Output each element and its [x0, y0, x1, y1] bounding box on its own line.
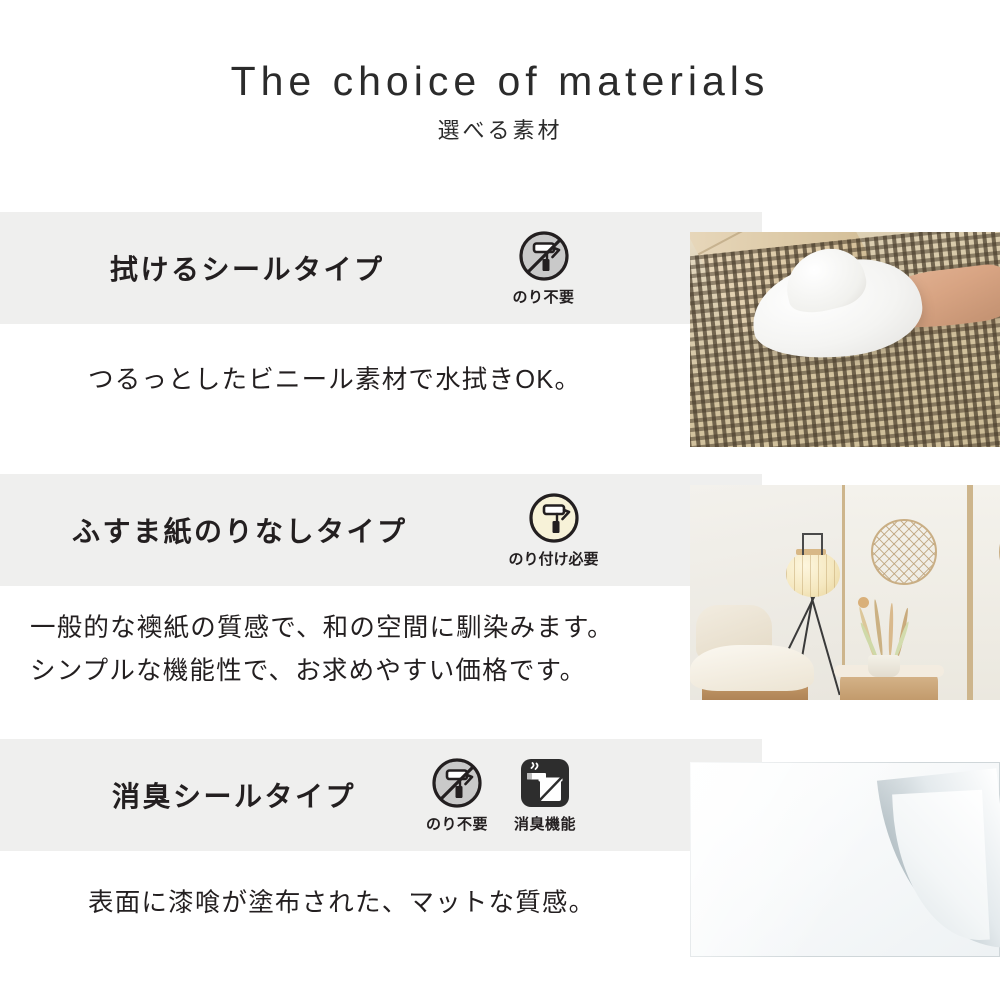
section-header-row: 消臭シールタイプ のり不要 — [0, 739, 700, 851]
badge-group: のり不要 消臭機能 — [418, 756, 584, 834]
badge-group: のり不要 — [505, 229, 583, 307]
page-header: The choice of materials 選べる素材 — [0, 0, 1000, 200]
page-title-en: The choice of materials — [0, 58, 1000, 105]
section-description-line-1: 一般的な襖紙の質感で、和の空間に馴染みます。 — [30, 608, 614, 648]
photo-white-paper-curled-corner — [690, 762, 1000, 957]
page-title-ja: 選べる素材 — [0, 113, 1000, 145]
section-header-row: ふすま紙のりなしタイプ のり付け必要 — [0, 474, 700, 586]
badge-label: 消臭機能 — [514, 813, 576, 834]
section-header-row: 拭けるシールタイプ のり不要 — [0, 212, 700, 324]
badge-label: のり不要 — [513, 286, 575, 307]
badge-glue-required: のり付け必要 — [494, 491, 614, 569]
section-title: ふすま紙のりなしタイプ — [72, 510, 408, 550]
glue-required-roller-icon — [527, 491, 581, 545]
section-title: 拭けるシールタイプ — [110, 248, 385, 288]
photo-japanese-interior-fusuma — [690, 485, 1000, 700]
deodorize-cigarette-bin-icon — [518, 756, 572, 810]
material-section-wipeable-seal-type: 拭けるシールタイプ のり不要 つるっとしたビニール素材で水拭きOK。 — [0, 212, 1000, 462]
badge-no-glue: のり不要 — [505, 229, 583, 307]
section-description-line-1: 表面に漆喰が塗布された、マットな質感。 — [88, 883, 595, 923]
section-description-line-2: シンプルな機能性で、お求めやすい価格です。 — [30, 651, 586, 691]
material-section-deodorizing-seal-type: 消臭シールタイプ のり不要 — [0, 739, 1000, 989]
badge-label: のり不要 — [426, 813, 488, 834]
badge-label: のり付け必要 — [509, 548, 599, 569]
section-description-line-1: つるっとしたビニール素材で水拭きOK。 — [88, 360, 581, 400]
photo-wiping-rattan-with-towel — [690, 232, 1000, 447]
no-glue-roller-icon — [517, 229, 571, 283]
no-glue-roller-icon — [430, 756, 484, 810]
badge-no-glue: のり不要 — [418, 756, 496, 834]
badge-deodorize: 消臭機能 — [506, 756, 584, 834]
section-title: 消臭シールタイプ — [112, 775, 356, 815]
material-section-fusuma-paper-no-glue-type: ふすま紙のりなしタイプ のり付け必要 一般的な襖紙の質感で、和の空間に馴染みます… — [0, 474, 1000, 724]
badge-group: のり付け必要 — [494, 491, 614, 569]
